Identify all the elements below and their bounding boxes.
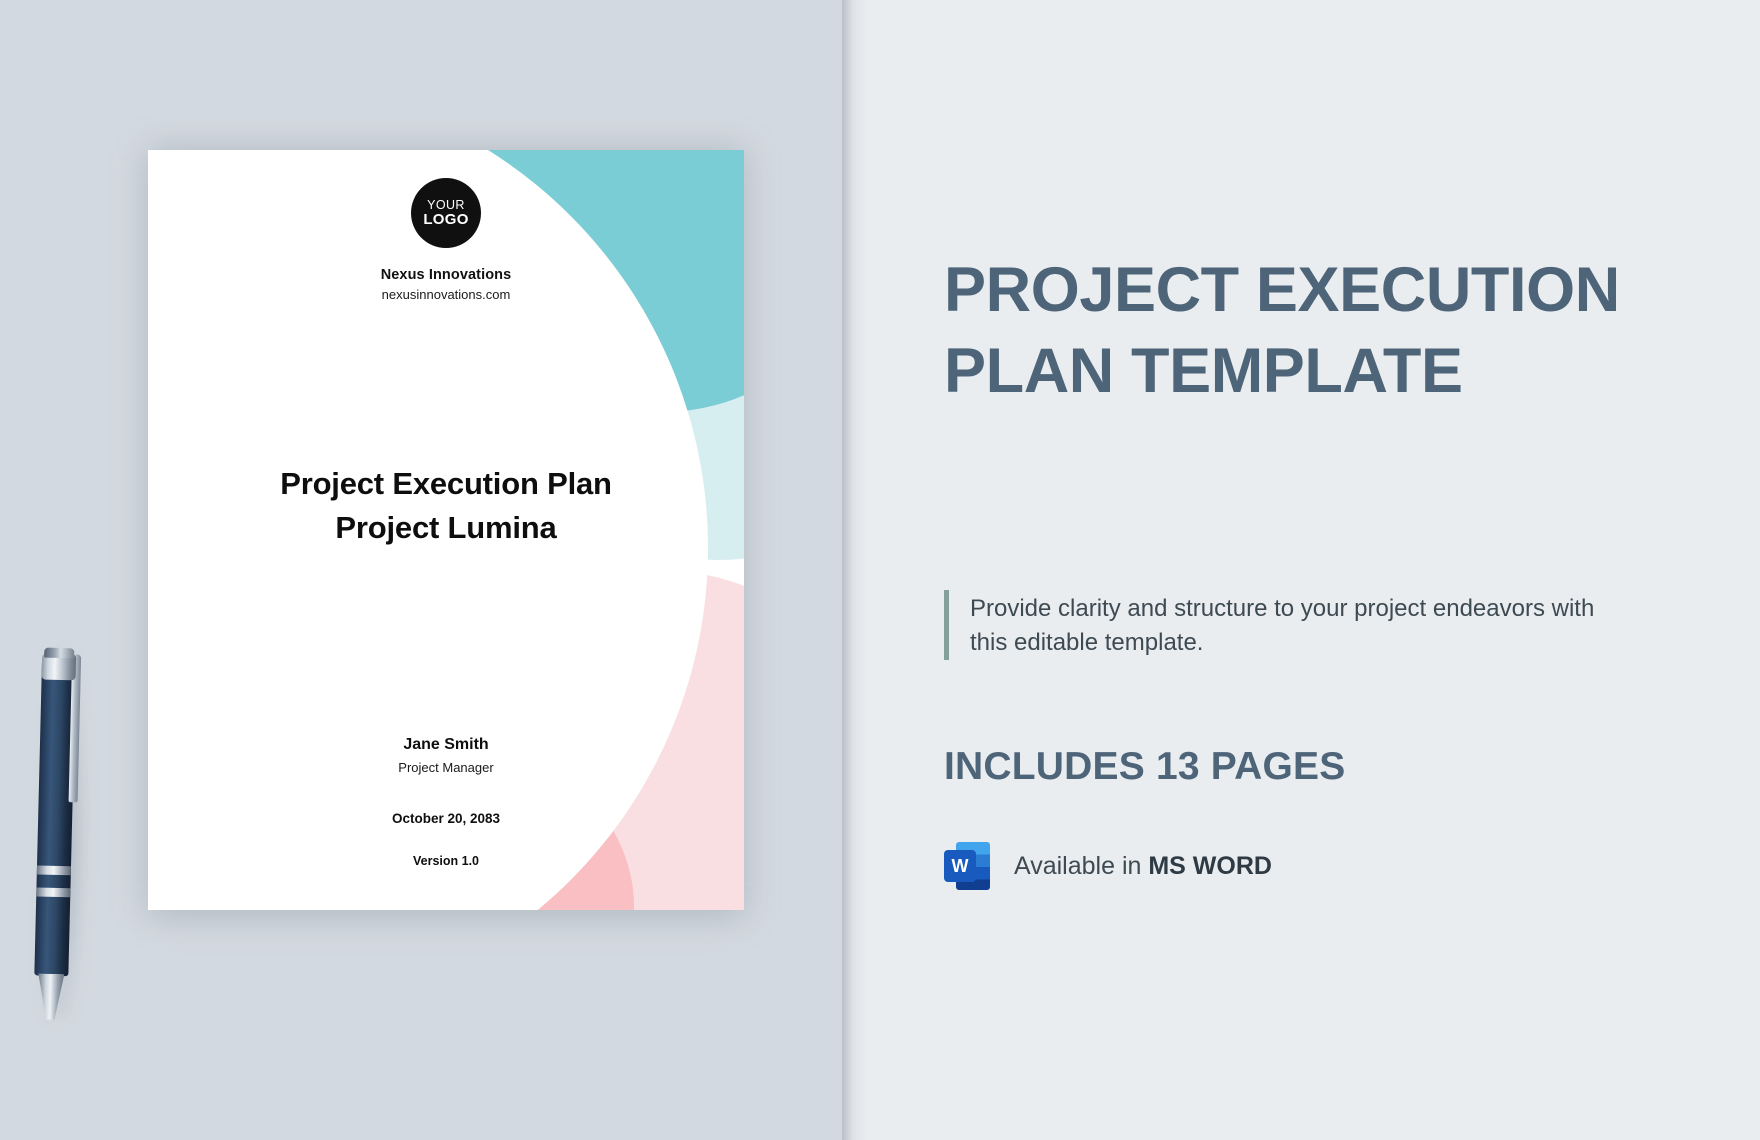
document-title-line-1: Project Execution Plan bbox=[148, 462, 744, 506]
ms-word-icon: W bbox=[944, 840, 990, 892]
promo-subtitle-block: Provide clarity and structure to your pr… bbox=[944, 590, 1624, 660]
availability-format: MS WORD bbox=[1148, 852, 1272, 880]
mockup-scene-panel: YOUR LOGO Nexus Innovations nexusinnovat… bbox=[0, 0, 842, 1140]
ballpoint-pen-prop bbox=[25, 629, 95, 1020]
document-content: YOUR LOGO Nexus Innovations nexusinnovat… bbox=[148, 150, 744, 910]
document-title: Project Execution Plan Project Lumina bbox=[148, 462, 744, 550]
availability-prefix: Available in bbox=[1014, 852, 1148, 880]
your-logo-placeholder-icon[interactable]: YOUR LOGO bbox=[411, 178, 481, 248]
pen-band-lower bbox=[36, 887, 70, 897]
document-cover-page[interactable]: YOUR LOGO Nexus Innovations nexusinnovat… bbox=[148, 150, 744, 910]
promo-panel: Project Execution Plan Template Provide … bbox=[842, 0, 1760, 1140]
document-version: Version 1.0 bbox=[148, 854, 744, 868]
promo-subtitle: Provide clarity and structure to your pr… bbox=[970, 590, 1624, 660]
screenshot-root: YOUR LOGO Nexus Innovations nexusinnovat… bbox=[0, 0, 1760, 1140]
author-block: Jane Smith Project Manager October 20, 2… bbox=[148, 736, 744, 868]
logo-line-2: LOGO bbox=[423, 212, 468, 227]
company-name: Nexus Innovations bbox=[148, 267, 744, 283]
availability-text: Available in MS WORD bbox=[1014, 852, 1272, 881]
panel-divider-shadow bbox=[842, 0, 868, 1140]
document-date: October 20, 2083 bbox=[148, 811, 744, 826]
company-website: nexusinnovations.com bbox=[148, 287, 744, 302]
ms-word-icon-letter: W bbox=[944, 850, 976, 882]
promo-page-count: Includes 13 pages bbox=[944, 745, 1345, 789]
author-role: Project Manager bbox=[148, 760, 744, 775]
promo-heading: Project Execution Plan Template bbox=[944, 250, 1664, 411]
document-title-line-2: Project Lumina bbox=[148, 506, 744, 550]
promo-availability: W Available in MS WORD bbox=[944, 840, 1272, 892]
logo-block: YOUR LOGO Nexus Innovations nexusinnovat… bbox=[148, 178, 744, 302]
pen-cap-top bbox=[44, 648, 74, 659]
logo-line-1: YOUR bbox=[427, 199, 465, 212]
pen-band-upper bbox=[37, 865, 71, 875]
author-name: Jane Smith bbox=[148, 736, 744, 754]
promo-content: Project Execution Plan Template Provide … bbox=[944, 0, 1704, 1140]
accent-bar bbox=[944, 590, 949, 660]
